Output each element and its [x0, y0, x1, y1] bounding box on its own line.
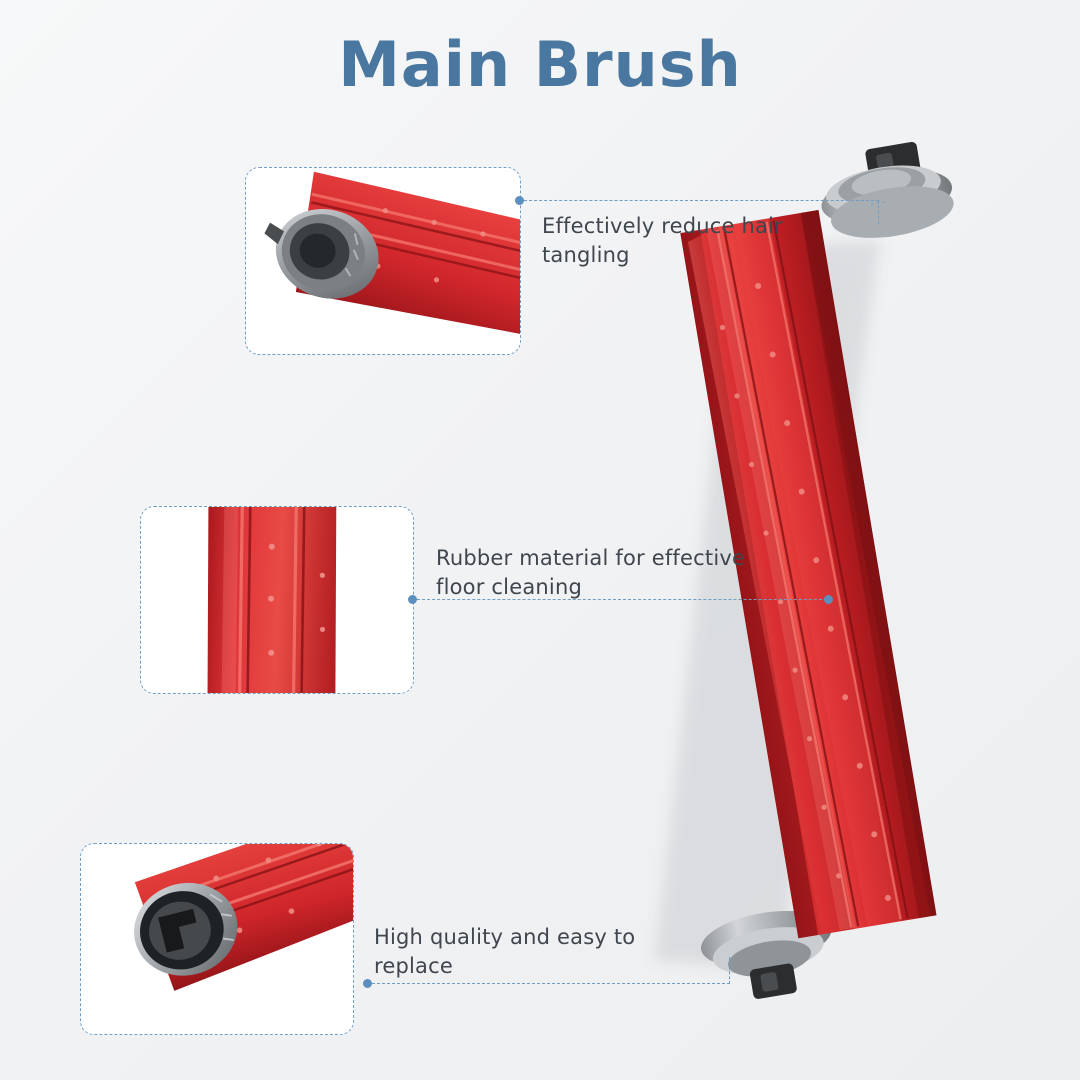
leader-line-rubber-material	[412, 599, 832, 600]
callout-text-hair-tangling: Effectively reduce hair tangling	[542, 214, 783, 267]
leader-line-easy-replace	[367, 983, 730, 984]
callout-label-rubber-material: Rubber material for effective floor clea…	[436, 544, 766, 602]
brush-rubber-fins-closeup	[141, 507, 413, 693]
callout-box-easy-replace	[80, 843, 354, 1035]
callout-label-easy-replace: High quality and easy to replace	[374, 923, 674, 981]
callout-box-rubber-material	[140, 506, 414, 694]
leader-dot-hair-tangling	[515, 196, 524, 205]
brush-end-cap-closeup	[246, 168, 520, 354]
leader-line-hair-tangling	[519, 200, 879, 201]
leader-line-hair-tangling-drop	[878, 200, 879, 224]
leader-dot-rubber-material	[408, 595, 417, 604]
leader-dot-rubber-material-end	[824, 595, 833, 604]
callout-box-hair-tangling	[245, 167, 521, 355]
callout-text-rubber-material: Rubber material for effective floor clea…	[436, 546, 745, 599]
page-title: Main Brush	[0, 28, 1080, 101]
product-infographic: Main Brush	[0, 0, 1080, 1080]
leader-dot-easy-replace	[363, 979, 372, 988]
leader-line-easy-replace-rise	[729, 957, 730, 984]
brush-bearing-closeup	[81, 844, 353, 1034]
callout-label-hair-tangling: Effectively reduce hair tangling	[542, 212, 832, 270]
callout-text-easy-replace: High quality and easy to replace	[374, 925, 635, 978]
